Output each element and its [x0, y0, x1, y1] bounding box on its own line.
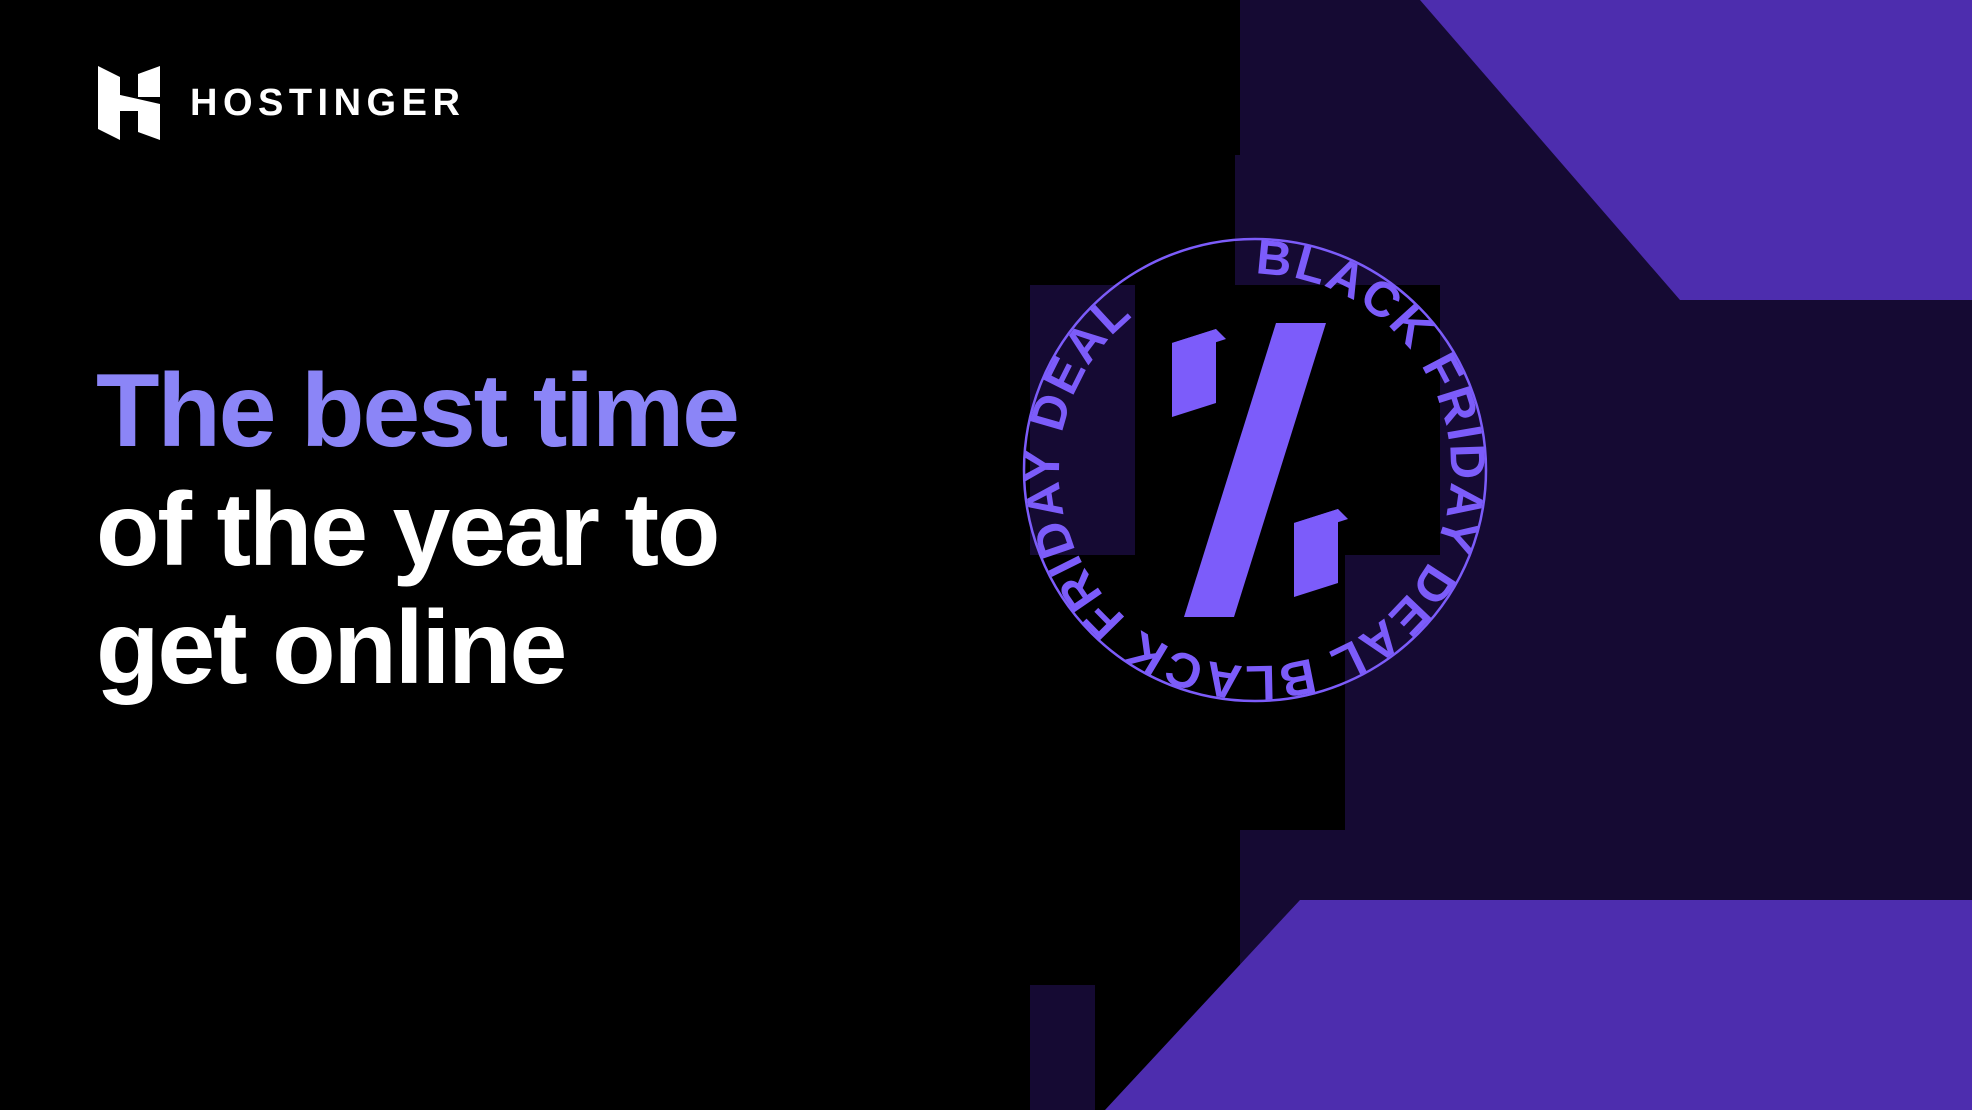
- headline-line-2: of the year to: [96, 471, 738, 590]
- percent-icon: [1172, 323, 1348, 617]
- hostinger-logo[interactable]: HOSTINGER: [98, 66, 465, 140]
- black-friday-deal-badge[interactable]: BLACK FRIDAY DEAL BLACK FRIDAY DEAL: [1020, 235, 1490, 705]
- headline-line-3: get online: [96, 589, 738, 708]
- hostinger-wordmark: HOSTINGER: [190, 84, 465, 122]
- hostinger-h-mark: [98, 66, 160, 140]
- page-title: The best time of the year to get online: [96, 352, 738, 708]
- promo-banner: HOSTINGER The best time of the year to g…: [0, 0, 1972, 1110]
- headline-line-1: The best time: [96, 352, 738, 471]
